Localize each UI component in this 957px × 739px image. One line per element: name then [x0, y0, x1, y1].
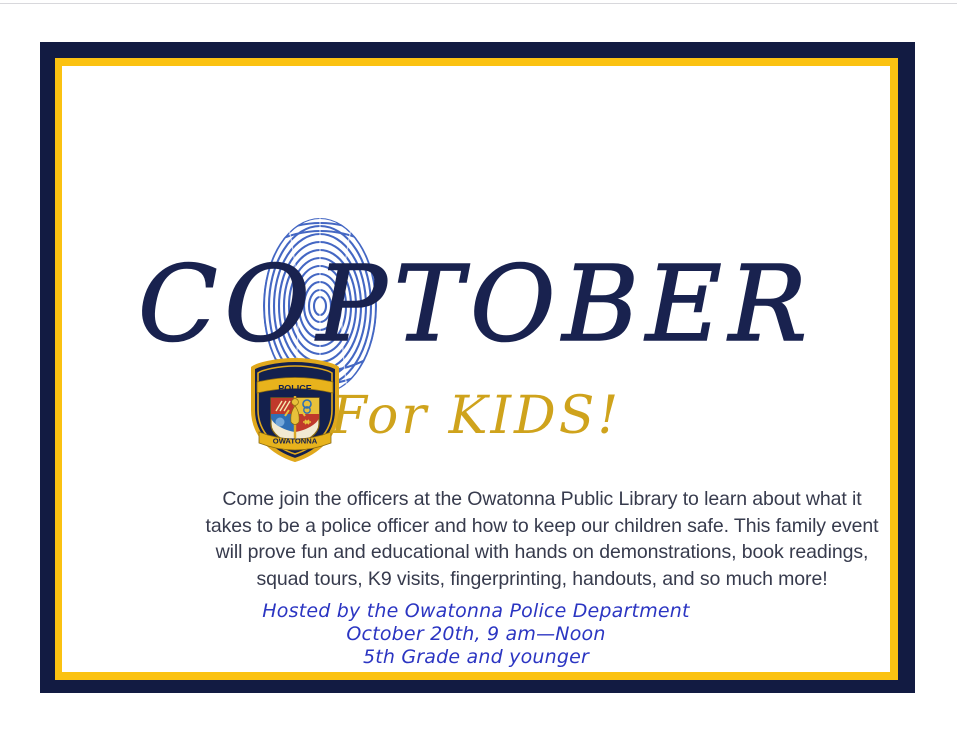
page-top-edge-line: [0, 3, 957, 4]
poster-canvas: POLICE: [0, 0, 957, 739]
poster-body-text: Come join the officers at the Owatonna P…: [197, 486, 887, 592]
footer-line-datetime: October 20th, 9 am—Noon: [62, 623, 890, 646]
footer-line-host: Hosted by the Owatonna Police Department: [62, 600, 890, 623]
footer-line-audience: 5th Grade and younger: [62, 646, 890, 669]
poster-subtitle: For KIDS!: [62, 390, 890, 442]
poster-footer: Hosted by the Owatonna Police Department…: [62, 600, 890, 669]
poster-title: COPTOBER: [62, 252, 890, 356]
poster-inner-canvas: POLICE: [62, 66, 890, 672]
poster-frame-navy: POLICE: [40, 42, 915, 693]
poster-frame-gold: POLICE: [55, 58, 898, 680]
